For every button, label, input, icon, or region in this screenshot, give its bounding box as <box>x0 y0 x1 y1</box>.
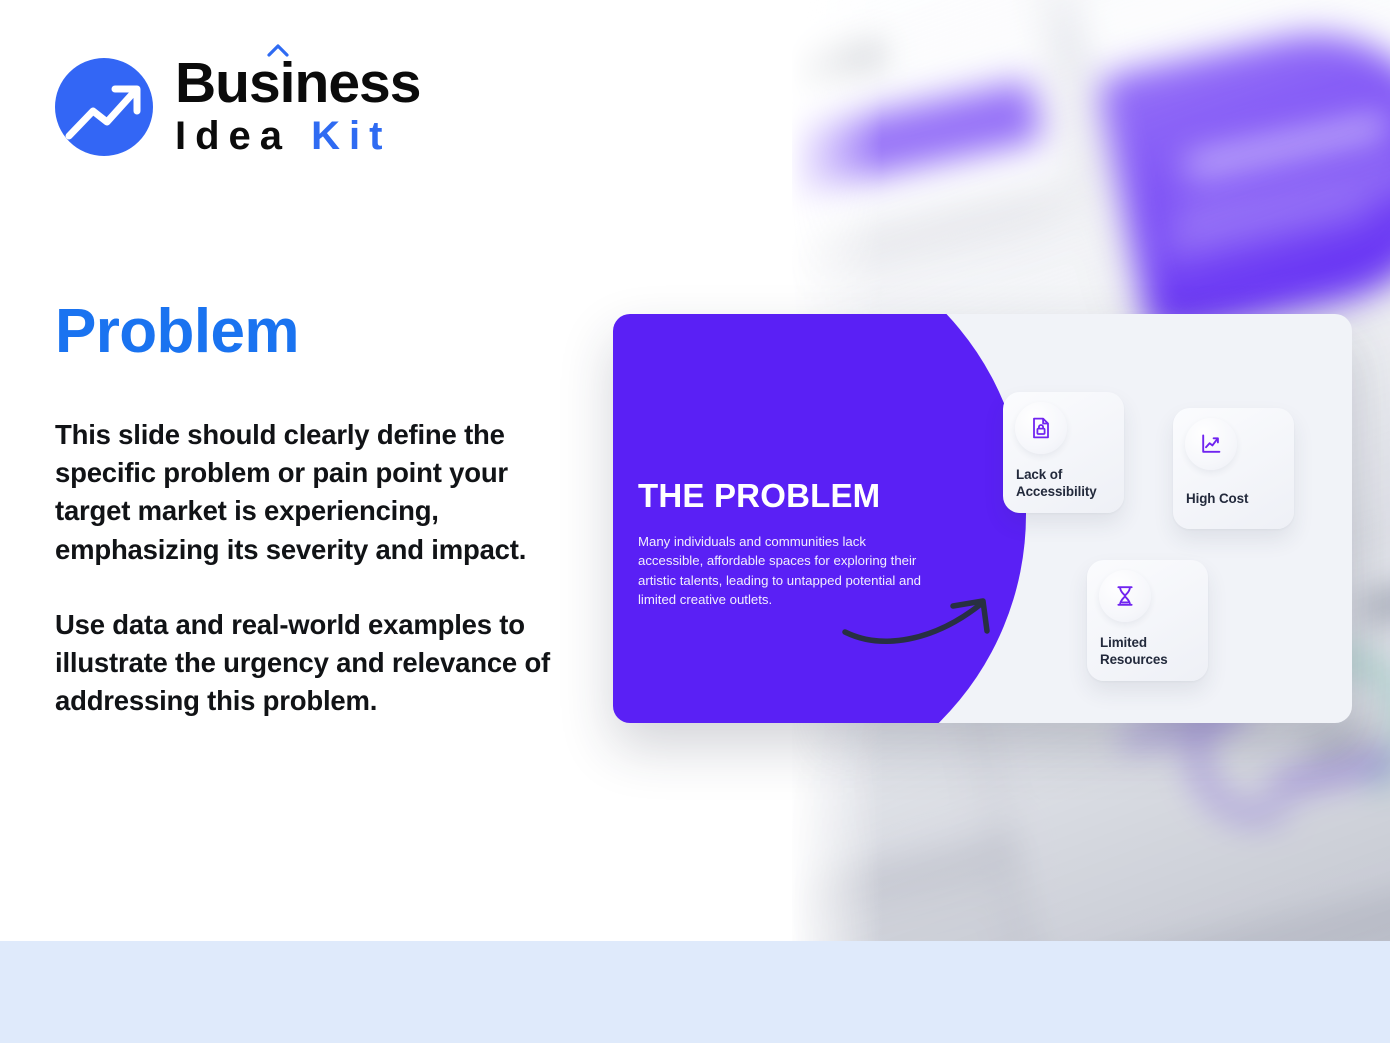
line-chart-icon <box>1185 418 1237 470</box>
feature-tile-label: High Cost <box>1186 490 1286 507</box>
brand-line-business-text: Business <box>175 51 420 115</box>
caret-accent-icon <box>267 43 289 57</box>
slide-preview-heading: THE PROBLEM <box>638 477 880 515</box>
feature-tile-label: Lack of Accessibility <box>1016 466 1116 500</box>
purple-circle-shape <box>613 314 1026 723</box>
curved-arrow-icon <box>841 594 1001 649</box>
feature-tile-lack-of-accessibility[interactable]: Lack of Accessibility <box>1003 392 1124 513</box>
feature-tile-limited-resources[interactable]: Limited Resources <box>1087 560 1208 681</box>
description-paragraph-1: This slide should clearly define the spe… <box>55 416 567 569</box>
bottom-accent-bar <box>0 941 1390 1043</box>
brand-word-kit: Kit <box>311 114 391 158</box>
feature-tile-high-cost[interactable]: High Cost <box>1173 408 1294 529</box>
feature-tile-label: Limited Resources <box>1100 634 1200 668</box>
brand-logo[interactable]: Business Idea Kit <box>55 55 420 159</box>
description-paragraph-2: Use data and real-world examples to illu… <box>55 606 567 721</box>
document-lock-icon <box>1015 402 1067 454</box>
hourglass-icon <box>1099 570 1151 622</box>
brand-line-business: Business <box>175 56 420 111</box>
page-title: Problem <box>55 296 299 367</box>
brand-word-idea: Idea <box>175 114 291 158</box>
page-description: This slide should clearly define the spe… <box>55 416 567 721</box>
brand-wordmark: Business Idea Kit <box>175 56 420 160</box>
brand-line-idea-kit: Idea Kit <box>175 113 420 160</box>
slide-template-page: Business Idea Kit Problem This slide sho… <box>0 0 1390 1043</box>
trending-up-arrow-icon <box>55 58 153 156</box>
